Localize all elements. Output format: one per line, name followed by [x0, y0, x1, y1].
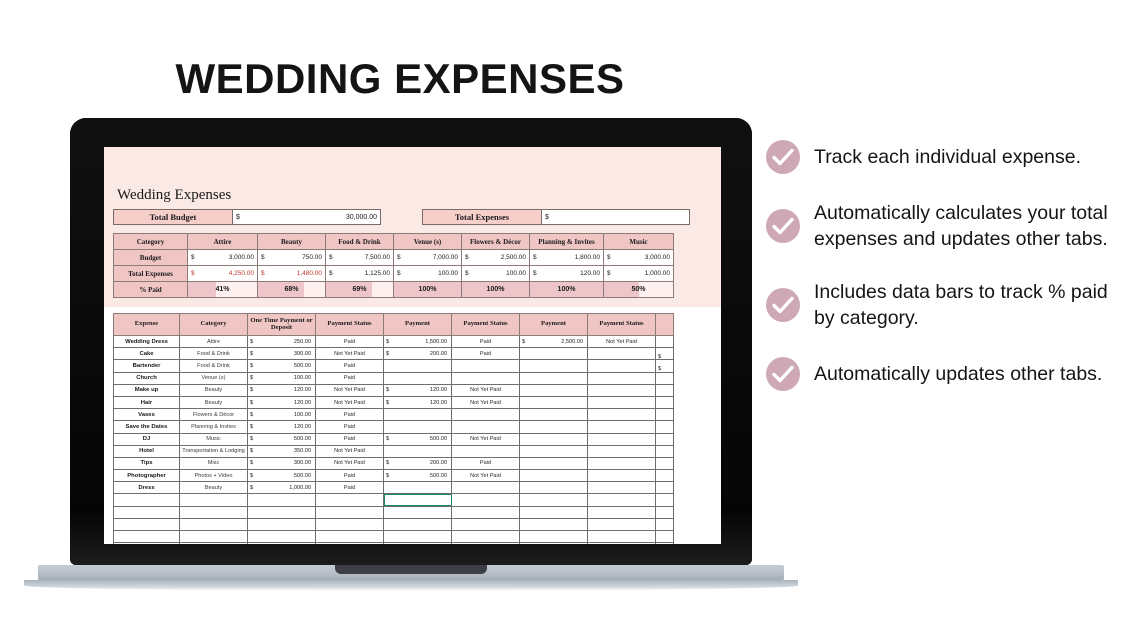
percent-paid-label: 50% [604, 282, 673, 297]
status-cell[interactable]: Not Yet Paid [316, 445, 384, 457]
feature-text: Includes data bars to track % paid by ca… [814, 279, 1114, 332]
expense-detail-table: ExpenseCategoryOne Time Payment or Depos… [113, 313, 674, 544]
table-row: DressBeauty$1,000.00Paid [114, 482, 674, 494]
payment-cell[interactable] [384, 494, 452, 506]
tail-cell[interactable] [656, 457, 674, 469]
status-cell[interactable]: Not Yet Paid [452, 433, 520, 445]
status-cell[interactable] [452, 445, 520, 457]
status-cell[interactable]: Paid [316, 336, 384, 348]
sheet-title: Wedding Expenses [117, 187, 231, 204]
expense-col-header: Category [180, 314, 248, 336]
spreadsheet: Wedding Expenses Total Budget $ 30,000.0… [104, 147, 721, 544]
summary-percent-row: % Paid41%68%69%100%100%100%50% [114, 282, 674, 298]
status-cell[interactable]: Not Yet Paid [588, 336, 656, 348]
deposit-cell[interactable]: $100.00 [248, 409, 316, 421]
status-cell[interactable]: Not Yet Paid [452, 396, 520, 408]
expense-name-cell[interactable]: Tips [114, 457, 180, 469]
status-cell[interactable] [588, 409, 656, 421]
total-expense-cell[interactable]: $1,480.00 [258, 266, 326, 282]
expense-category-cell[interactable] [180, 494, 248, 506]
deposit-cell[interactable] [248, 506, 316, 518]
expense-col-header: Expense [114, 314, 180, 336]
tail-cell[interactable] [656, 433, 674, 445]
tail-cell[interactable] [656, 336, 674, 348]
summary-category-header: Food & Drink [326, 234, 394, 250]
deposit-cell[interactable]: $500.00 [248, 470, 316, 482]
total-expense-cell[interactable]: $100.00 [394, 266, 462, 282]
status-cell[interactable] [588, 348, 656, 360]
percent-paid-label: 100% [394, 282, 461, 297]
payment-cell[interactable] [520, 409, 588, 421]
payment-cell[interactable] [384, 372, 452, 384]
total-expense-cell[interactable]: $1,000.00 [604, 266, 674, 282]
summary-expenses-row: Total Expenses$4,250.00$1,480.00$1,125.0… [114, 266, 674, 282]
percent-paid-databar[interactable]: 100% [394, 282, 462, 298]
percent-paid-databar[interactable]: 41% [188, 282, 258, 298]
total-expenses-label: Total Expenses [422, 209, 542, 225]
table-row: HairBeauty$120.00Not Yet Paid$120.00Not … [114, 396, 674, 408]
expense-category-cell[interactable]: Photos + Video [180, 470, 248, 482]
status-cell[interactable] [452, 543, 520, 544]
total-expense-cell[interactable]: $1,125.00 [326, 266, 394, 282]
category-summary-table: CategoryAttireBeautyFood & DrinkVenue (s… [113, 233, 674, 298]
expense-category-cell[interactable]: Transportation & Lodging [180, 445, 248, 457]
payment-cell[interactable] [520, 360, 588, 372]
deposit-cell[interactable] [248, 518, 316, 530]
page-title: WEDDING EXPENSES [0, 55, 800, 103]
expense-category-cell[interactable]: Music [180, 433, 248, 445]
expense-name-cell[interactable]: Hair [114, 396, 180, 408]
expense-name-cell[interactable]: Make up [114, 384, 180, 396]
summary-category-header: Music [604, 234, 674, 250]
total-budget-box: Total Budget $ 30,000.00 [113, 209, 381, 225]
expense-category-cell[interactable]: Beauty [180, 384, 248, 396]
total-expense-cell[interactable]: $100.00 [462, 266, 530, 282]
payment-cell[interactable] [520, 372, 588, 384]
tail-cell[interactable] [656, 494, 674, 506]
expense-name-cell[interactable] [114, 506, 180, 518]
tail-cell[interactable]: $ [656, 360, 674, 372]
expense-category-cell[interactable]: Food & Drink [180, 360, 248, 372]
expense-col-header: One Time Payment or Deposit [248, 314, 316, 336]
expense-category-cell[interactable]: Venue (s) [180, 372, 248, 384]
payment-cell[interactable] [384, 518, 452, 530]
status-cell[interactable] [588, 494, 656, 506]
payment-cell[interactable] [384, 360, 452, 372]
status-cell[interactable]: Paid [316, 372, 384, 384]
status-cell[interactable] [588, 470, 656, 482]
payment-cell[interactable] [384, 506, 452, 518]
table-row: DJMusic$500.00Paid$500.00Not Yet Paid [114, 433, 674, 445]
status-cell[interactable] [588, 482, 656, 494]
status-cell[interactable] [588, 518, 656, 530]
status-cell[interactable] [452, 494, 520, 506]
deposit-cell[interactable]: $350.00 [248, 445, 316, 457]
status-cell[interactable] [588, 384, 656, 396]
table-row [114, 494, 674, 506]
payment-cell[interactable]: $120.00 [384, 396, 452, 408]
tail-cell[interactable] [656, 372, 674, 384]
percent-paid-databar[interactable]: 100% [462, 282, 530, 298]
expense-col-header: Payment [384, 314, 452, 336]
status-cell[interactable]: Paid [452, 348, 520, 360]
payment-cell[interactable] [384, 482, 452, 494]
check-circle-icon [766, 288, 800, 322]
percent-paid-label: 69% [326, 282, 393, 297]
total-budget-amount: 30,000.00 [346, 214, 377, 221]
tail-cell[interactable] [656, 470, 674, 482]
table-row: TipsMisc$300.00Not Yet Paid$200.00Paid [114, 457, 674, 469]
summary-category-header: Attire [188, 234, 258, 250]
status-cell[interactable] [588, 445, 656, 457]
expense-name-cell[interactable]: Hotel [114, 445, 180, 457]
summary-category-header: Beauty [258, 234, 326, 250]
summary-category-header: Flowers & Décor [462, 234, 530, 250]
payment-cell[interactable] [384, 531, 452, 543]
laptop-lid: Wedding Expenses Total Budget $ 30,000.0… [70, 118, 752, 565]
deposit-cell[interactable]: $500.00 [248, 360, 316, 372]
percent-paid-label: 100% [462, 282, 529, 297]
status-cell[interactable] [588, 433, 656, 445]
deposit-cell[interactable] [248, 494, 316, 506]
total-budget-label: Total Budget [113, 209, 233, 225]
status-cell[interactable] [316, 518, 384, 530]
feature-list: Track each individual expense.Automatica… [766, 140, 1114, 417]
laptop-mockup: Wedding Expenses Total Budget $ 30,000.0… [70, 118, 752, 580]
status-cell[interactable] [452, 372, 520, 384]
status-cell[interactable] [588, 506, 656, 518]
table-row: CakeFood & Drink$300.00Not Yet Paid$200.… [114, 348, 674, 360]
summary-row-label: Total Expenses [114, 266, 188, 282]
budget-cell[interactable]: $3,000.00 [188, 250, 258, 266]
status-cell[interactable]: Paid [316, 482, 384, 494]
expense-name-cell[interactable]: Church [114, 372, 180, 384]
payment-cell[interactable]: $500.00 [384, 433, 452, 445]
expense-col-header: Payment Status [452, 314, 520, 336]
payment-cell[interactable] [520, 457, 588, 469]
tail-cell[interactable] [656, 543, 674, 544]
budget-cell[interactable]: $750.00 [258, 250, 326, 266]
deposit-cell[interactable]: $300.00 [248, 348, 316, 360]
status-cell[interactable] [588, 372, 656, 384]
status-cell[interactable] [452, 482, 520, 494]
tail-cell[interactable] [656, 421, 674, 433]
table-row [114, 518, 674, 530]
status-cell[interactable]: Not Yet Paid [316, 384, 384, 396]
payment-cell[interactable] [520, 348, 588, 360]
check-circle-icon [766, 209, 800, 243]
payment-cell[interactable] [520, 470, 588, 482]
poster-root: WEDDING EXPENSES Wedding Expenses Total … [0, 0, 1140, 641]
expense-header-row: ExpenseCategoryOne Time Payment or Depos… [114, 314, 674, 336]
summary-category-header: Venue (s) [394, 234, 462, 250]
tail-cell[interactable] [656, 396, 674, 408]
status-cell[interactable] [588, 360, 656, 372]
expense-name-cell[interactable]: Photographer [114, 470, 180, 482]
payment-cell[interactable] [520, 433, 588, 445]
list-item: Track each individual expense. [766, 140, 1114, 174]
percent-paid-databar[interactable]: 68% [258, 282, 326, 298]
total-budget-value[interactable]: $ 30,000.00 [233, 209, 381, 225]
check-circle-icon [766, 140, 800, 174]
percent-paid-databar[interactable]: 69% [326, 282, 394, 298]
deposit-cell[interactable]: $100.00 [248, 372, 316, 384]
deposit-cell[interactable]: $120.00 [248, 384, 316, 396]
tail-cell[interactable] [656, 518, 674, 530]
expense-name-cell[interactable] [114, 518, 180, 530]
budget-cell[interactable]: $2,500.00 [462, 250, 530, 266]
payment-cell[interactable] [520, 518, 588, 530]
payment-cell[interactable] [520, 384, 588, 396]
budget-cell[interactable]: $7,000.00 [394, 250, 462, 266]
list-item: Automatically updates other tabs. [766, 357, 1114, 391]
status-cell[interactable] [452, 409, 520, 421]
table-row [114, 531, 674, 543]
payment-cell[interactable] [384, 409, 452, 421]
status-cell[interactable]: Paid [316, 470, 384, 482]
expense-name-cell[interactable]: Bartender [114, 360, 180, 372]
table-row: PhotographerPhotos + Video$500.00Paid$50… [114, 470, 674, 482]
percent-paid-databar[interactable]: 100% [530, 282, 604, 298]
total-expense-cell[interactable]: $120.00 [530, 266, 604, 282]
payment-cell[interactable] [520, 543, 588, 544]
expense-category-cell[interactable]: Planning & Invites [180, 421, 248, 433]
payment-cell[interactable] [520, 531, 588, 543]
expense-category-cell[interactable]: Food & Drink [180, 348, 248, 360]
expense-name-cell[interactable] [114, 494, 180, 506]
feature-text: Track each individual expense. [814, 144, 1081, 170]
expense-category-cell[interactable]: Beauty [180, 482, 248, 494]
expense-name-cell[interactable] [114, 531, 180, 543]
expense-col-header: Payment Status [588, 314, 656, 336]
budget-cell[interactable]: $3,000.00 [604, 250, 674, 266]
summary-row-label: % Paid [114, 282, 188, 298]
table-row [114, 506, 674, 518]
payment-cell[interactable]: $2,500.00 [520, 336, 588, 348]
status-cell[interactable]: Not Yet Paid [452, 384, 520, 396]
payment-cell[interactable]: $200.00 [384, 457, 452, 469]
status-cell[interactable] [588, 396, 656, 408]
list-item: Includes data bars to track % paid by ca… [766, 279, 1114, 332]
status-cell[interactable]: Not Yet Paid [316, 348, 384, 360]
status-cell[interactable] [452, 421, 520, 433]
payment-cell[interactable]: $120.00 [384, 384, 452, 396]
expense-category-cell[interactable] [180, 531, 248, 543]
table-row: Wedding DressAttire$250.00Paid$1,500.00P… [114, 336, 674, 348]
percent-paid-label: 68% [258, 282, 325, 297]
expense-col-header: Payment Status [316, 314, 384, 336]
check-circle-icon [766, 357, 800, 391]
status-cell[interactable]: Paid [316, 433, 384, 445]
summary-row-label: Budget [114, 250, 188, 266]
expense-category-cell[interactable]: Flowers & Décor [180, 409, 248, 421]
tail-cell[interactable] [656, 384, 674, 396]
deposit-cell[interactable]: $1,000.00 [248, 482, 316, 494]
status-cell[interactable]: Not Yet Paid [316, 396, 384, 408]
laptop-screen: Wedding Expenses Total Budget $ 30,000.0… [104, 147, 721, 544]
expense-category-cell[interactable] [180, 518, 248, 530]
percent-paid-databar[interactable]: 50% [604, 282, 674, 298]
deposit-cell[interactable] [248, 531, 316, 543]
payment-cell[interactable] [384, 421, 452, 433]
status-cell[interactable]: Paid [316, 360, 384, 372]
expense-col-header: Payment [520, 314, 588, 336]
table-row: Make upBeauty$120.00Not Yet Paid$120.00N… [114, 384, 674, 396]
payment-cell[interactable] [520, 445, 588, 457]
sheet-header-band [104, 147, 721, 217]
status-cell[interactable] [316, 494, 384, 506]
summary-category-header: Planning & Invites [530, 234, 604, 250]
table-row [114, 543, 674, 544]
expense-col-header [656, 314, 674, 336]
tail-cell[interactable] [656, 506, 674, 518]
payment-cell[interactable] [520, 396, 588, 408]
expense-name-cell[interactable] [114, 543, 180, 544]
total-expenses-value[interactable]: $ [542, 209, 690, 225]
status-cell[interactable] [316, 543, 384, 544]
laptop-base-lip [24, 580, 798, 591]
deposit-cell[interactable] [248, 543, 316, 544]
expense-name-cell[interactable]: Cake [114, 348, 180, 360]
total-budget-currency: $ [236, 214, 240, 221]
payment-cell[interactable] [520, 506, 588, 518]
tail-cell[interactable]: $ [656, 348, 674, 360]
deposit-cell[interactable]: $250.00 [248, 336, 316, 348]
status-cell[interactable] [452, 531, 520, 543]
status-cell[interactable]: Not Yet Paid [452, 470, 520, 482]
status-cell[interactable] [452, 506, 520, 518]
total-expenses-currency: $ [545, 214, 549, 221]
table-row: HotelTransportation & Lodging$350.00Not … [114, 445, 674, 457]
feature-text: Automatically updates other tabs. [814, 361, 1102, 387]
status-cell[interactable] [588, 531, 656, 543]
deposit-cell[interactable]: $120.00 [248, 396, 316, 408]
table-row: BartenderFood & Drink$500.00Paid$ [114, 360, 674, 372]
expense-category-cell[interactable]: Misc [180, 457, 248, 469]
tail-cell[interactable] [656, 482, 674, 494]
deposit-cell[interactable]: $120.00 [248, 421, 316, 433]
status-cell[interactable] [588, 543, 656, 544]
expense-name-cell[interactable]: DJ [114, 433, 180, 445]
payment-cell[interactable] [520, 494, 588, 506]
payment-cell[interactable] [520, 482, 588, 494]
status-cell[interactable] [316, 531, 384, 543]
expense-category-cell[interactable]: Beauty [180, 396, 248, 408]
tail-cell[interactable] [656, 445, 674, 457]
tail-cell[interactable] [656, 409, 674, 421]
status-cell[interactable]: Paid [452, 336, 520, 348]
status-cell[interactable] [452, 360, 520, 372]
budget-cell[interactable]: $1,800.00 [530, 250, 604, 266]
status-cell[interactable]: Paid [452, 457, 520, 469]
payment-cell[interactable] [384, 445, 452, 457]
payment-cell[interactable]: $500.00 [384, 470, 452, 482]
table-row: Save the DatesPlanning & Invites$120.00P… [114, 421, 674, 433]
expense-category-cell[interactable]: Attire [180, 336, 248, 348]
status-cell[interactable]: Paid [316, 409, 384, 421]
payment-cell[interactable]: $200.00 [384, 348, 452, 360]
status-cell[interactable]: Paid [316, 421, 384, 433]
percent-paid-label: 100% [530, 282, 603, 297]
status-cell[interactable] [452, 518, 520, 530]
deposit-cell[interactable]: $300.00 [248, 457, 316, 469]
summary-budget-row: Budget$3,000.00$750.00$7,500.00$7,000.00… [114, 250, 674, 266]
budget-cell[interactable]: $7,500.00 [326, 250, 394, 266]
expense-name-cell[interactable]: Save the Dates [114, 421, 180, 433]
expense-category-cell[interactable] [180, 543, 248, 544]
expense-name-cell[interactable]: Dress [114, 482, 180, 494]
status-cell[interactable] [588, 421, 656, 433]
summary-header-row: CategoryAttireBeautyFood & DrinkVenue (s… [114, 234, 674, 250]
percent-paid-label: 41% [188, 282, 257, 297]
total-expenses-box: Total Expenses $ [422, 209, 690, 225]
payment-cell[interactable] [520, 421, 588, 433]
payment-cell[interactable]: $1,500.00 [384, 336, 452, 348]
deposit-cell[interactable]: $500.00 [248, 433, 316, 445]
summary-col-header: Category [114, 234, 188, 250]
table-row: ChurchVenue (s)$100.00Paid [114, 372, 674, 384]
total-expense-cell[interactable]: $4,250.00 [188, 266, 258, 282]
feature-text: Automatically calculates your total expe… [814, 200, 1114, 253]
list-item: Automatically calculates your total expe… [766, 200, 1114, 253]
expense-category-cell[interactable] [180, 506, 248, 518]
status-cell[interactable] [316, 506, 384, 518]
status-cell[interactable]: Not Yet Paid [316, 457, 384, 469]
expense-name-cell[interactable]: Vases [114, 409, 180, 421]
payment-cell[interactable] [384, 543, 452, 544]
expense-name-cell[interactable]: Wedding Dress [114, 336, 180, 348]
status-cell[interactable] [588, 457, 656, 469]
tail-cell[interactable] [656, 531, 674, 543]
table-row: VasesFlowers & Décor$100.00Paid [114, 409, 674, 421]
